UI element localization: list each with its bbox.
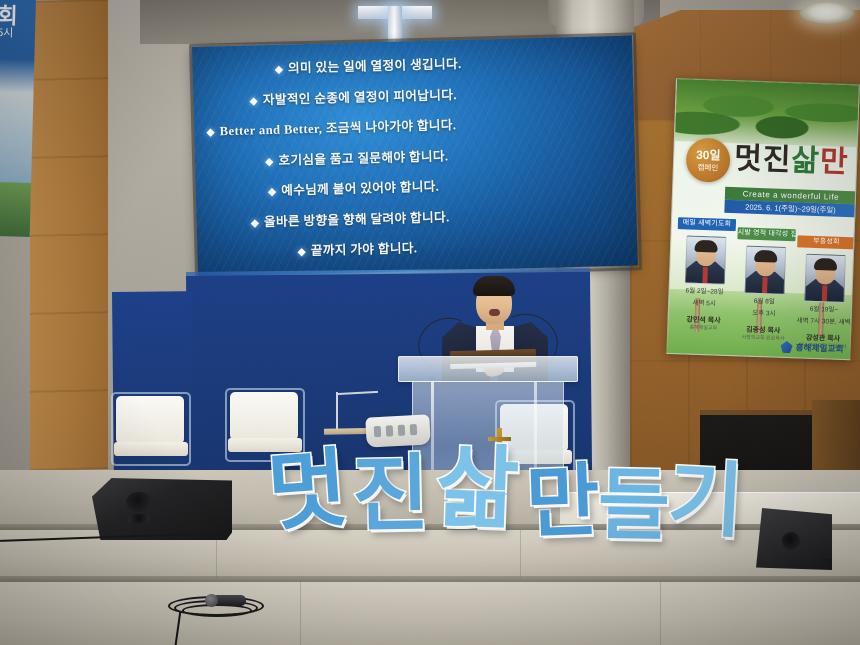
bullet-icon: ◆	[297, 245, 306, 258]
banner-column: 매일 새벽기도회 6월 2일~28일 새벽 5시 강민석 목사 흥해제일교회	[674, 217, 736, 332]
chair-seat-cushion	[114, 442, 188, 456]
slide-line-text: Better and Better, 조금씩 나아가야 합니다.	[220, 119, 457, 138]
banner-column-tag: 부흥성회	[797, 235, 855, 249]
monitor-slot	[398, 425, 406, 436]
slide-line: ◆ 올바른 방향을 향해 달려야 합니다.	[206, 206, 626, 230]
banner-column-date: 6월 19일~	[795, 304, 853, 315]
slide-line: ◆ 끝까지 가야 합니다.	[207, 237, 627, 261]
pulpit-top-surface	[398, 356, 578, 382]
speaker-tweeter	[128, 514, 150, 523]
speaker-portrait	[804, 254, 846, 303]
slide-line-text: 올바른 방향을 향해 달려야 합니다.	[264, 211, 450, 228]
gold-cross-horizontal	[488, 437, 511, 441]
chair-seat-cushion	[228, 438, 302, 452]
portrait-tie	[702, 267, 708, 283]
portrait-hair	[814, 258, 837, 271]
tile-seam	[300, 582, 301, 645]
slide-line: ◆ 호기심을 품고 질문해야 합니다.	[205, 145, 625, 169]
banner-column-date: 6월 8일	[735, 296, 793, 307]
badge-label: 캠페인	[697, 162, 718, 172]
speaker-driver	[782, 532, 800, 550]
chair-back-cushion	[116, 396, 184, 444]
portrait-hair	[754, 250, 777, 263]
bullet-icon: ◆	[274, 63, 283, 76]
headline-part-1: 멋진	[734, 142, 792, 177]
bullet-icon: ◆	[206, 125, 215, 138]
slide-text-block: ◆ 의미 있는 일에 열정이 생깁니다. ◆ 자발적인 순종에 열정이 피어납니…	[192, 49, 637, 270]
stage-monitor-speaker-right	[756, 508, 832, 570]
speaker-driver	[126, 492, 152, 512]
bullet-icon: ◆	[250, 216, 259, 229]
slide-line: ◆ 자발적인 순종에 열정이 피어납니다.	[203, 84, 623, 108]
lamp-stem	[336, 392, 338, 430]
monitor-slot	[374, 426, 382, 437]
slide-line: ◆ 예수님께 붙어 있어야 합니다.	[206, 176, 626, 200]
bullet-icon: ◆	[265, 154, 274, 167]
coiled-microphone-cable	[168, 594, 280, 620]
sanctuary-photo: 회 5시 ◆ 의미 있는 일에 열정이 생깁니다. ◆ 자발적인 순종에 열정이…	[0, 0, 860, 645]
stage-step-lower	[0, 582, 860, 645]
wood-paneling-left	[30, 0, 108, 471]
pastor-mouth	[489, 309, 500, 316]
stage-monitor-speaker-left	[92, 478, 232, 540]
left-banner-foliage	[0, 182, 31, 237]
banner-column-time: 오후 3시	[735, 309, 793, 320]
campaign-banner: 30일 캠페인 멋진삶만 Create a wonderful Life 202…	[666, 78, 860, 360]
slide-line-text: 끝까지 가야 합니다.	[311, 242, 418, 257]
banner-column-time: 새벽 7시 30분, 새벽	[794, 317, 852, 328]
tile-seam	[520, 530, 521, 578]
portrait-hair	[694, 240, 717, 253]
banner-column-date: 6월 2일~28일	[675, 286, 733, 297]
banner-column: 시발 영적 대각성 집회 6월 8일 오후 3시 김종성 목사 사랑의교회 원로…	[734, 219, 796, 342]
badge-number: 30일	[696, 148, 721, 161]
floor-monitor-white	[365, 414, 430, 447]
speaker-portrait	[685, 235, 727, 284]
slide-line-text: 의미 있는 일에 열정이 생깁니다.	[288, 58, 462, 75]
slide-line: ◆ Better and Better, 조금씩 나아가야 합니다.	[204, 115, 624, 139]
portrait-tie	[762, 277, 768, 293]
tile-seam	[660, 582, 661, 645]
slide-line-text: 예수님께 붙어 있어야 합니다.	[281, 181, 439, 198]
bullet-icon: ◆	[249, 94, 258, 107]
ceiling-light-icon	[800, 2, 854, 24]
banner-headline: 멋진삶만	[733, 131, 859, 191]
monitor-slot	[386, 425, 394, 436]
headline-part-2: 삶	[791, 144, 821, 178]
slide-line-text: 자발적인 순종에 열정이 피어납니다.	[263, 89, 457, 107]
banner-column: 부흥성회 6월 19일~ 새벽 7시 30분, 새벽 강성관 목사 예수사랑교회…	[794, 221, 856, 350]
slide-line-text: 호기심을 품고 질문해야 합니다.	[278, 150, 448, 167]
slide-line: ◆ 의미 있는 일에 열정이 생깁니다.	[202, 54, 622, 78]
pastor-hair	[473, 276, 515, 296]
church-logo: 흥해제일교회	[780, 341, 844, 355]
bullet-icon: ◆	[268, 185, 277, 198]
headline-part-3: 만	[819, 145, 849, 179]
banner-column-tag: 매일 새벽기도회	[678, 217, 736, 231]
monitor-slot	[410, 424, 418, 435]
left-banner-line2: 5시	[0, 24, 14, 40]
gold-cross-vertical	[497, 428, 502, 462]
church-name: 흥해제일교회	[795, 341, 844, 355]
projection-screen: ◆ 의미 있는 일에 열정이 생깁니다. ◆ 자발적인 순종에 열정이 피어납니…	[192, 35, 638, 276]
handheld-microphone	[212, 595, 246, 606]
portrait-tie	[822, 285, 828, 301]
speaker-portrait	[745, 246, 787, 295]
chair-back-cushion	[230, 392, 298, 440]
gold-cross-icon	[486, 428, 512, 462]
banner-column-time: 새벽 5시	[675, 299, 733, 310]
church-logo-icon	[780, 341, 792, 353]
campaign-badge: 30일 캠페인	[685, 137, 731, 183]
left-partial-banner: 회 5시	[0, 0, 36, 237]
banner-column-tag: 시발 영적 대각성 집회	[737, 227, 795, 241]
